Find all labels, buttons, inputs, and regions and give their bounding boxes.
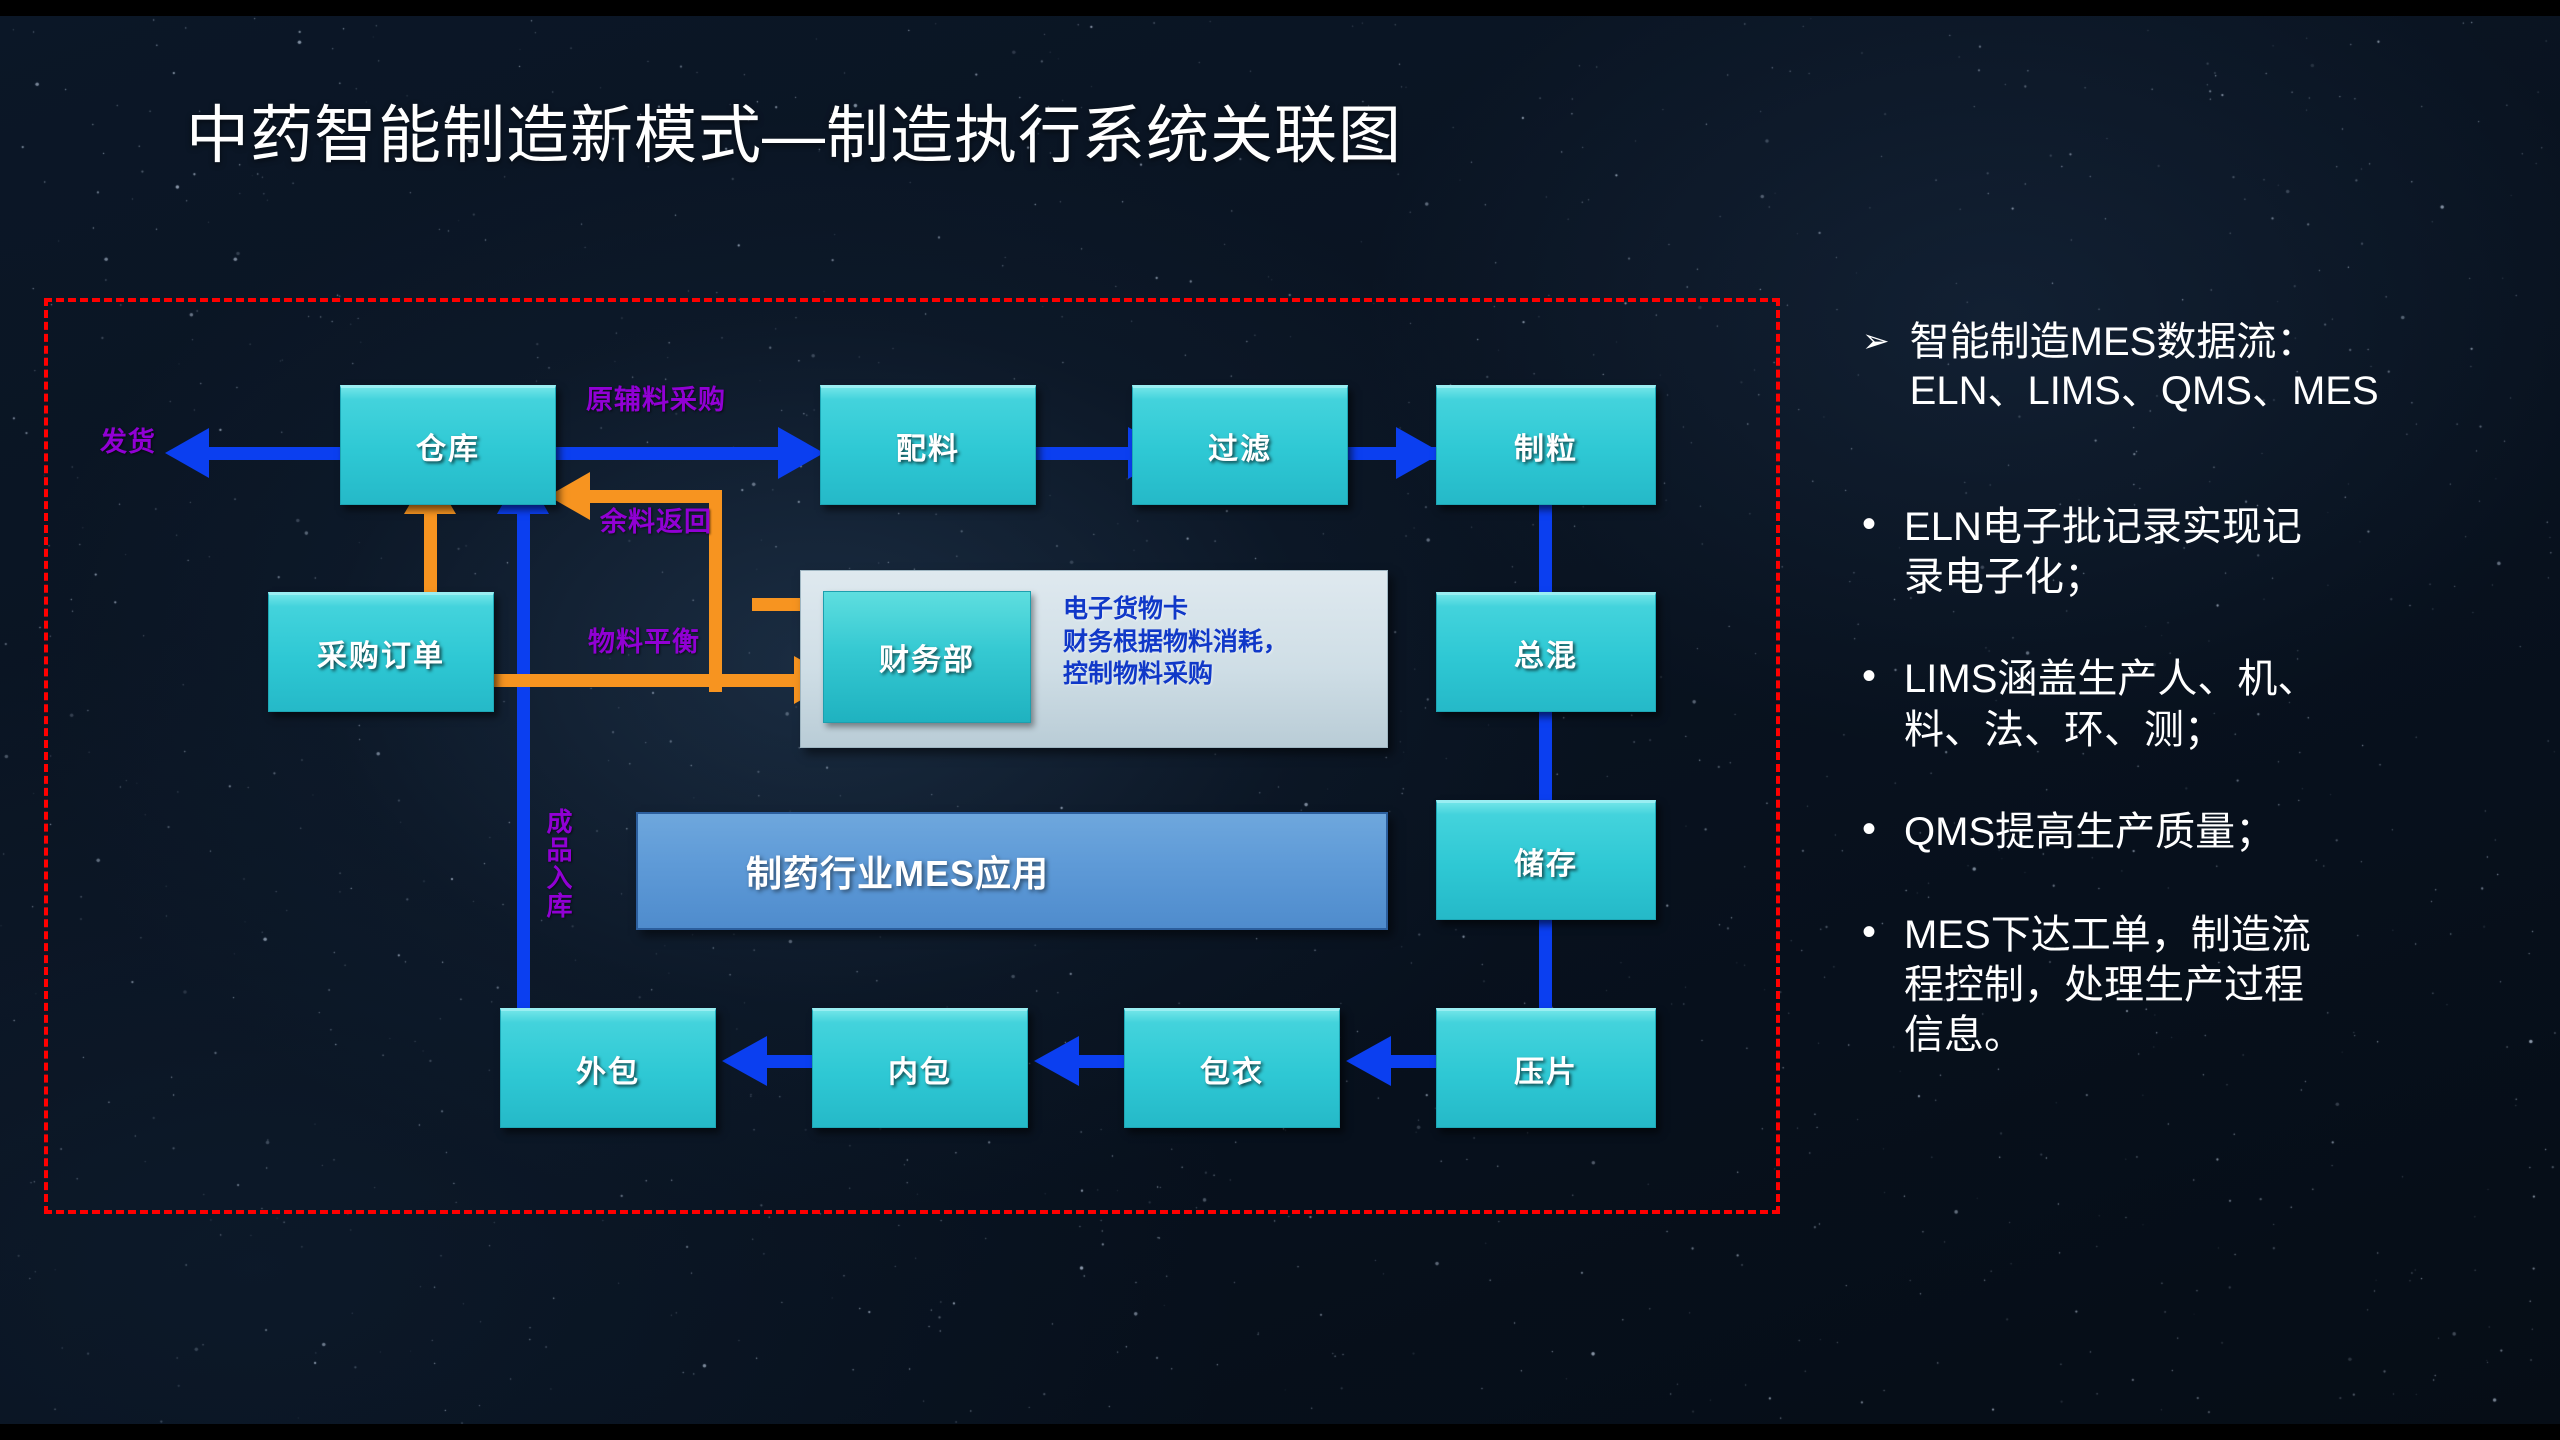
list-item-text: LIMS涵盖生产人、机、 料、法、环、测； — [1904, 654, 2317, 755]
list-item-text: QMS提高生产质量； — [1904, 807, 2275, 857]
arrowhead-coating — [1346, 1036, 1391, 1086]
node-tableting-label: 压片 — [1514, 1047, 1578, 1091]
node-finance-dept-label: 财务部 — [879, 635, 975, 679]
node-warehouse[interactable]: 仓库 — [340, 385, 556, 505]
node-filtering[interactable]: 过滤 — [1132, 385, 1348, 505]
notes-panel: ➢ 智能制造MES数据流： ELN、LIMS、QMS、MES • ELN电子批记… — [1862, 318, 2522, 1113]
list-item-text: ELN电子批记录实现记 录电子化； — [1904, 502, 2302, 603]
node-batching[interactable]: 配料 — [820, 385, 1036, 505]
notes-bullet-list: • ELN电子批记录实现记 录电子化； • LIMS涵盖生产人、机、 料、法、环… — [1862, 502, 2522, 1061]
node-blending-label: 总混 — [1514, 631, 1578, 675]
letterbox-top — [0, 0, 2560, 16]
arrowhead-outer-packing — [722, 1036, 767, 1086]
arrowhead-batching — [778, 427, 824, 479]
finance-panel[interactable]: 财务部 电子货物卡 财务根据物料消耗， 控制物料采购 — [800, 570, 1388, 748]
notes-heading: ➢ 智能制造MES数据流： ELN、LIMS、QMS、MES — [1862, 318, 2522, 416]
node-purchase-order-label: 采购订单 — [317, 631, 445, 675]
node-coating-label: 包衣 — [1200, 1047, 1264, 1091]
arrowhead-inner-packing — [1034, 1036, 1079, 1086]
node-granulation-label: 制粒 — [1514, 424, 1578, 468]
node-batching-label: 配料 — [896, 424, 960, 468]
mes-application-bar[interactable]: 制药行业MES应用 — [636, 812, 1388, 930]
node-finance-dept[interactable]: 财务部 — [823, 591, 1031, 723]
page-title: 中药智能制造新模式—制造执行系统关联图 — [186, 85, 1402, 176]
edge-warehouse-to-batching — [556, 447, 782, 460]
node-tableting[interactable]: 压片 — [1436, 1008, 1656, 1128]
node-filtering-label: 过滤 — [1208, 424, 1272, 468]
arrow-bullet-icon: ➢ — [1862, 318, 1890, 364]
letterbox-bottom — [0, 1424, 2560, 1440]
edge-label-shipment: 发货 — [100, 420, 156, 459]
bullet-dot-icon: • — [1862, 807, 1876, 851]
list-item: • MES下达工单，制造流 程控制，处理生产过程 信息。 — [1862, 910, 2522, 1061]
arrowhead-shipment — [165, 428, 209, 478]
list-item-text: MES下达工单，制造流 程控制，处理生产过程 信息。 — [1904, 910, 2311, 1061]
list-item: • QMS提高生产质量； — [1862, 807, 2522, 857]
node-warehouse-label: 仓库 — [416, 424, 480, 468]
node-storage[interactable]: 储存 — [1436, 800, 1656, 920]
edge-label-raw-material-purchase: 原辅料采购 — [586, 378, 726, 417]
node-granulation[interactable]: 制粒 — [1436, 385, 1656, 505]
edge-label-material-balance: 物料平衡 — [588, 620, 700, 659]
node-purchase-order[interactable]: 采购订单 — [268, 592, 494, 712]
node-outer-packing[interactable]: 外包 — [500, 1008, 716, 1128]
edge-label-finished-goods-in: 成品入库 — [540, 808, 577, 920]
node-outer-packing-label: 外包 — [576, 1047, 640, 1091]
node-blending[interactable]: 总混 — [1436, 592, 1656, 712]
node-coating[interactable]: 包衣 — [1124, 1008, 1340, 1128]
notes-heading-text: 智能制造MES数据流： ELN、LIMS、QMS、MES — [1910, 318, 2379, 416]
node-storage-label: 储存 — [1514, 839, 1578, 883]
slide-canvas: 中药智能制造新模式—制造执行系统关联图 发货 原辅料采购 — [0, 0, 2560, 1440]
bullet-dot-icon: • — [1862, 654, 1876, 698]
bullet-dot-icon: • — [1862, 910, 1876, 954]
list-item: • LIMS涵盖生产人、机、 料、法、环、测； — [1862, 654, 2522, 755]
edge-batching-to-filtering — [1036, 447, 1132, 460]
bullet-dot-icon: • — [1862, 502, 1876, 546]
node-inner-packing-label: 内包 — [888, 1047, 952, 1091]
edge-label-surplus-return: 余料返回 — [600, 500, 712, 539]
mes-application-label: 制药行业MES应用 — [746, 845, 1049, 897]
edge-warehouse-to-shipment — [205, 447, 345, 460]
list-item: • ELN电子批记录实现记 录电子化； — [1862, 502, 2522, 603]
edge-finished-goods-to-warehouse-vertical — [517, 497, 530, 1057]
node-inner-packing[interactable]: 内包 — [812, 1008, 1028, 1128]
finance-note-text: 电子货物卡 财务根据物料消耗， 控制物料采购 — [1063, 593, 1288, 691]
